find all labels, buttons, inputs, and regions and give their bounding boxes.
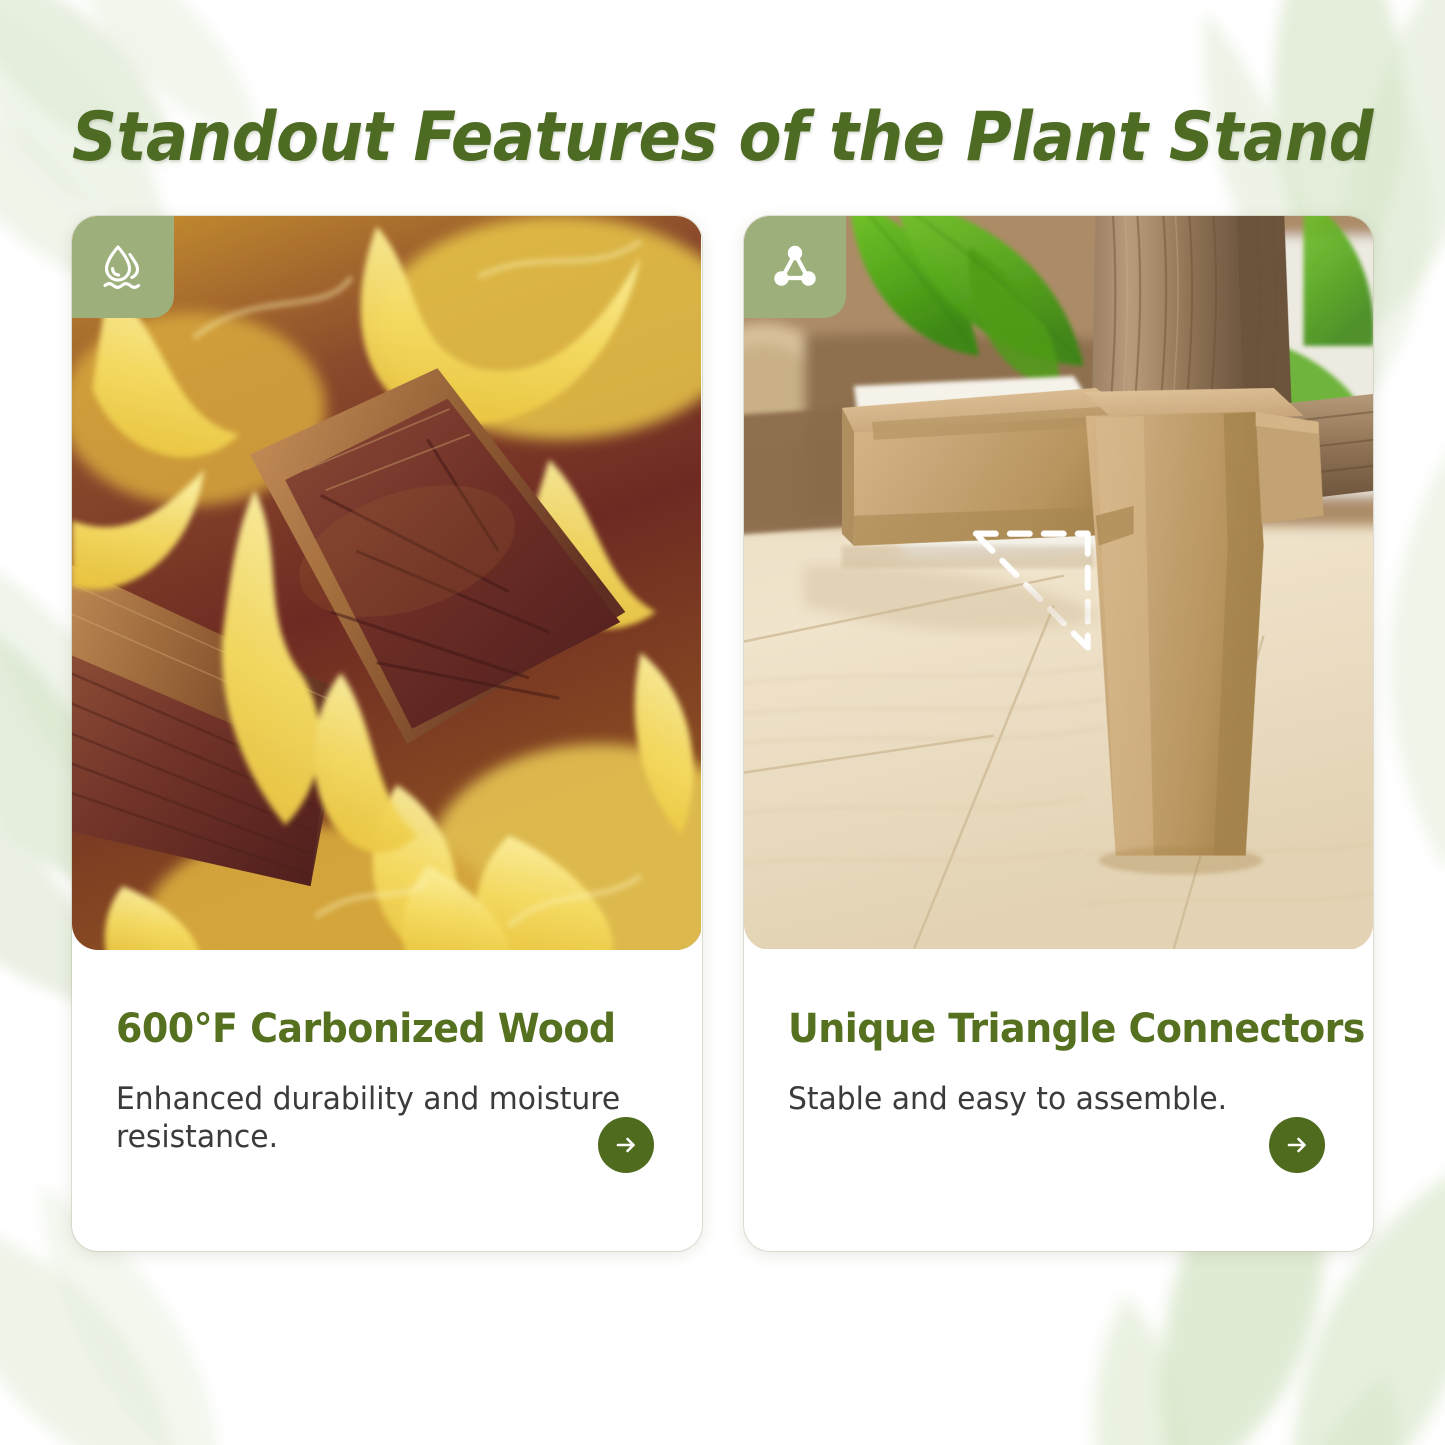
card-body: Unique Triangle Connectors Stable and ea… — [744, 950, 1374, 1251]
card-arrow-button[interactable] — [1269, 1117, 1325, 1173]
card-arrow-button[interactable] — [598, 1117, 654, 1173]
feature-card-grid: 600°F Carbonized Wood Enhanced durabilit… — [0, 216, 1445, 1251]
triangle-connector-photo-illustration — [744, 216, 1373, 949]
card-subtitle: Stable and easy to assemble. — [788, 1081, 1308, 1119]
card-badge-triangle — [744, 216, 846, 318]
card-photo-triangle-connector — [744, 216, 1374, 950]
card-heading: Unique Triangle Connectors — [788, 1008, 1302, 1051]
water-droplet-moisture-icon — [96, 240, 150, 294]
arrow-right-icon — [1282, 1130, 1312, 1160]
card-photo-burning-wood — [72, 216, 702, 950]
card-subtitle: Enhanced durability and moisture resista… — [116, 1081, 636, 1157]
card-body: 600°F Carbonized Wood Enhanced durabilit… — [72, 950, 702, 1251]
arrow-right-icon — [611, 1130, 641, 1160]
burning-wood-photo-illustration — [72, 216, 701, 950]
card-badge-moisture — [72, 216, 174, 318]
feature-card-carbonized-wood[interactable]: 600°F Carbonized Wood Enhanced durabilit… — [72, 216, 702, 1251]
card-heading: 600°F Carbonized Wood — [116, 1008, 630, 1051]
page-title: Standout Features of the Plant Stand — [58, 0, 1387, 172]
triangle-connector-icon — [768, 240, 822, 294]
feature-card-triangle-connectors[interactable]: Unique Triangle Connectors Stable and ea… — [744, 216, 1374, 1251]
